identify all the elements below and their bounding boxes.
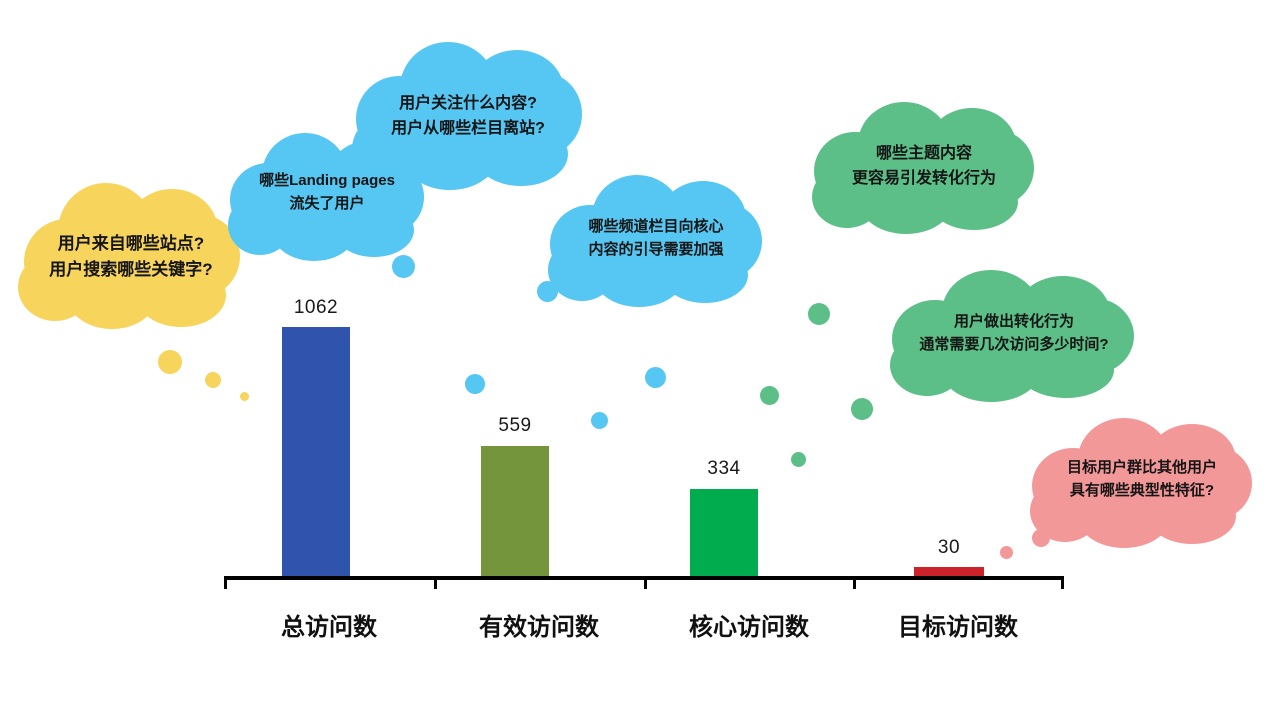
bubble-blue-4 (591, 412, 608, 429)
x-axis-tick-4 (1061, 576, 1064, 589)
bubble-red-2 (1000, 546, 1013, 559)
bar-value-0: 1062 (276, 297, 356, 319)
bubble-green-3 (851, 398, 873, 420)
cloud-content-line-2: 用户从哪些栏目离站? (352, 117, 584, 142)
cloud-yellow-line-2: 用户搜索哪些关键字? (18, 257, 244, 283)
cloud-target-line-1: 目标用户群比其他用户 (1030, 456, 1254, 479)
cloud-channel-line-2: 内容的引导需要加强 (548, 238, 764, 261)
x-axis-tick-3 (853, 576, 856, 589)
category-label-2: 核心访问数 (644, 607, 854, 642)
cloud-yellow-line-1: 用户来自哪些站点? (18, 231, 244, 257)
cloud-content-line-1: 用户关注什么内容? (352, 92, 584, 117)
annotation-cloud-yellow: 用户来自哪些站点? 用户搜索哪些关键字? (18, 183, 244, 329)
bar-1[interactable] (481, 446, 549, 578)
category-label-3: 目标访问数 (853, 607, 1063, 642)
bubble-blue-5 (645, 367, 666, 388)
bubble-yellow-2 (205, 372, 221, 388)
bar-2[interactable] (690, 489, 758, 578)
bar-value-3: 30 (909, 537, 989, 559)
cloud-theme-line-2: 更容易引发转化行为 (812, 167, 1036, 192)
x-axis-tick-0 (224, 576, 227, 589)
chart-canvas: 用户来自哪些站点? 用户搜索哪些关键字? 哪些Landing pages 流失了… (0, 0, 1268, 715)
cloud-channel-line-1: 哪些频道栏目向核心 (548, 215, 764, 238)
category-label-1: 有效访问数 (434, 607, 644, 642)
bubble-yellow-3 (240, 392, 249, 401)
category-label-0: 总访问数 (224, 607, 434, 642)
cloud-conversion-line-1: 用户做出转化行为 (890, 310, 1138, 333)
annotation-cloud-theme: 哪些主题内容 更容易引发转化行为 (812, 102, 1036, 234)
bubble-green-2 (760, 386, 779, 405)
cloud-theme-line-1: 哪些主题内容 (812, 142, 1036, 167)
bar-value-1: 559 (475, 415, 555, 437)
bubble-green-4 (791, 452, 806, 467)
bubble-blue-3 (465, 374, 485, 394)
cloud-conversion-line-2: 通常需要几次访问多少时间? (890, 333, 1138, 356)
x-axis-tick-2 (644, 576, 647, 589)
cloud-landing-line-2: 流失了用户 (228, 192, 426, 215)
annotation-cloud-channel: 哪些频道栏目向核心 内容的引导需要加强 (548, 175, 764, 307)
cloud-target-line-2: 具有哪些典型性特征? (1030, 479, 1254, 502)
annotation-cloud-conversion: 用户做出转化行为 通常需要几次访问多少时间? (890, 270, 1138, 402)
bubble-green-1 (808, 303, 830, 325)
annotation-cloud-target: 目标用户群比其他用户 具有哪些典型性特征? (1030, 418, 1254, 548)
bar-0[interactable] (282, 327, 350, 578)
bar-value-2: 334 (684, 458, 764, 480)
annotation-cloud-content: 用户关注什么内容? 用户从哪些栏目离站? (352, 42, 584, 190)
cloud-landing-line-1: 哪些Landing pages (228, 169, 426, 192)
x-axis-tick-1 (434, 576, 437, 589)
bubble-yellow-1 (158, 350, 182, 374)
